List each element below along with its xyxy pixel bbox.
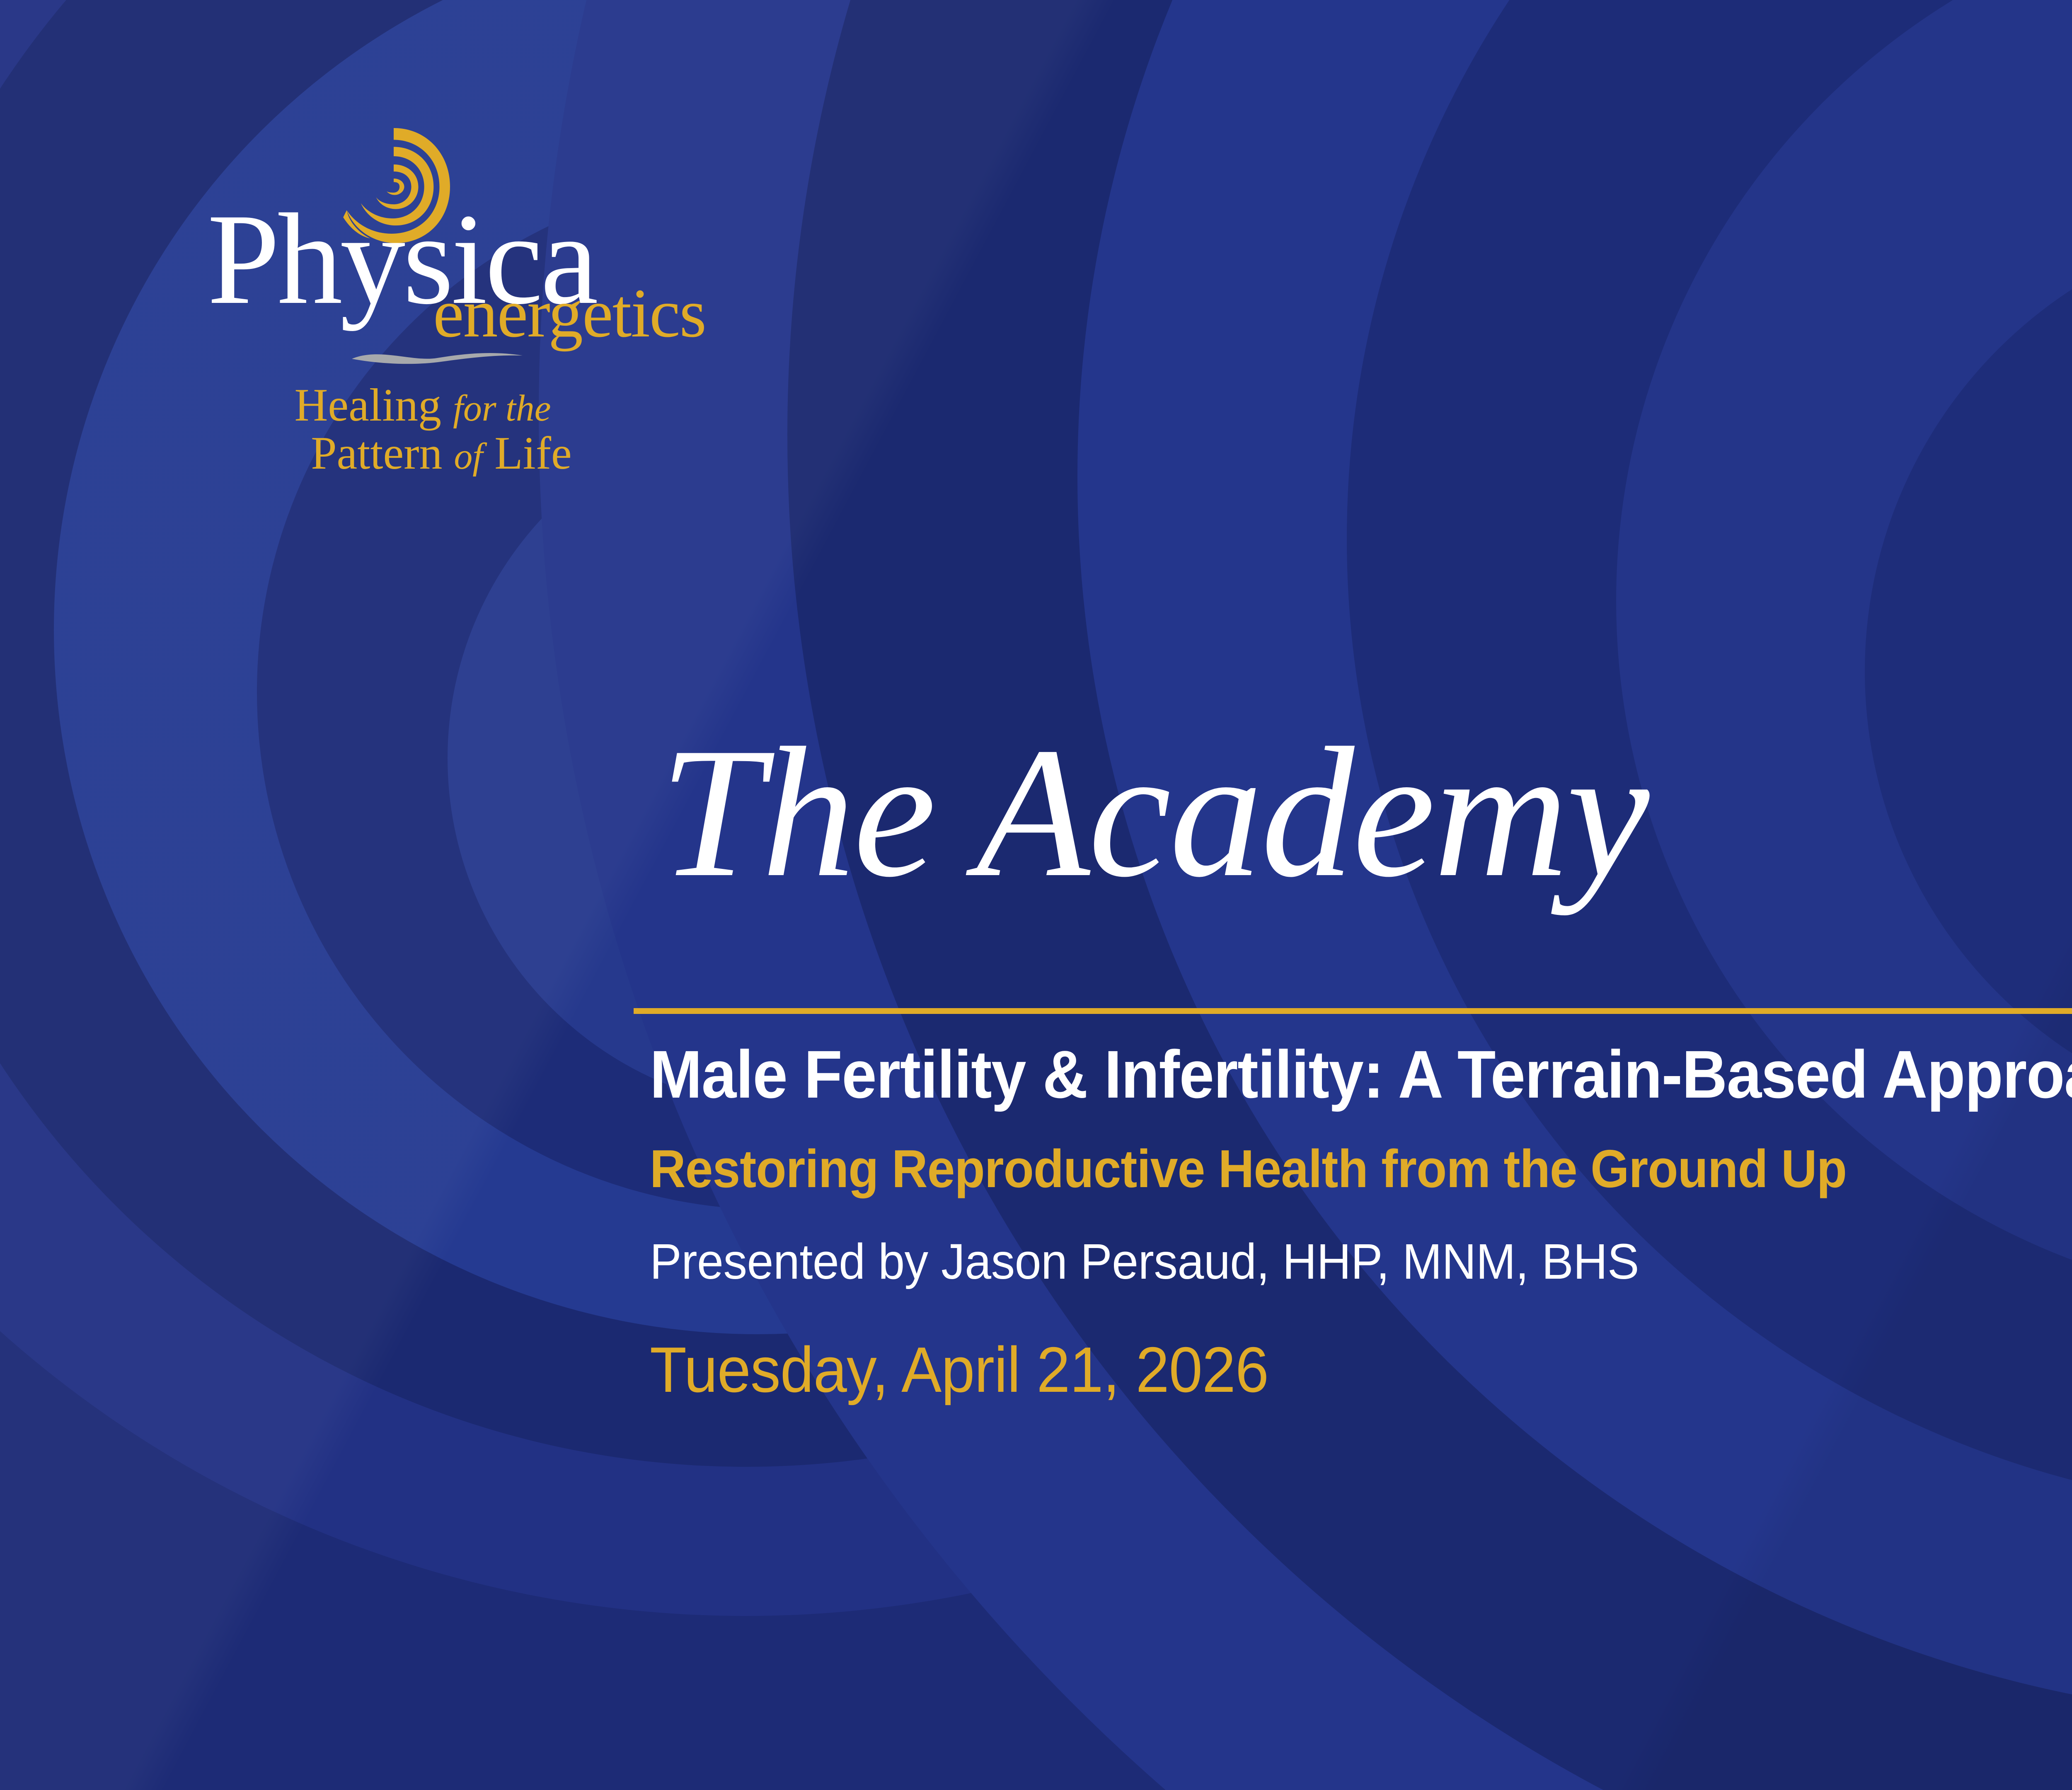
- tagline-lead-1: Healing: [295, 380, 453, 431]
- slide-presenter: Presented by Jason Persaud, HHP, MNM, BH…: [650, 1234, 2072, 1290]
- tagline-italic-2: of: [454, 436, 483, 477]
- divider-rule: [634, 1008, 2072, 1014]
- logo-name-energetics: energetics: [433, 278, 706, 348]
- physica-energetics-logo: Physica energetics Healing for the Patte…: [195, 124, 746, 356]
- logo-tagline: Healing for the Pattern of Life: [195, 381, 651, 478]
- tagline-lead-2: Pattern: [311, 428, 454, 479]
- slide-text-column: Male Fertility & Infertility: A Terrain-…: [650, 1028, 2072, 1405]
- slide-kicker: Restoring Reproductive Health from the G…: [650, 1139, 2072, 1199]
- logo-tagline-line-1: Healing for the: [195, 381, 651, 429]
- slide-subtitle: Male Fertility & Infertility: A Terrain-…: [650, 1037, 2072, 1113]
- logo-tagline-line-2: Pattern of Life: [195, 429, 651, 477]
- logo-wordmark: Physica energetics: [195, 124, 746, 356]
- page-title: The Academy: [660, 719, 1648, 906]
- title-slide: Physica energetics Healing for the Patte…: [0, 0, 2072, 1790]
- wave-swoosh-icon: [350, 348, 524, 366]
- slide-date: Tuesday, April 21, 2026: [650, 1334, 2072, 1406]
- tagline-tail-2: Life: [483, 428, 572, 479]
- tagline-italic-1: for the: [453, 388, 551, 429]
